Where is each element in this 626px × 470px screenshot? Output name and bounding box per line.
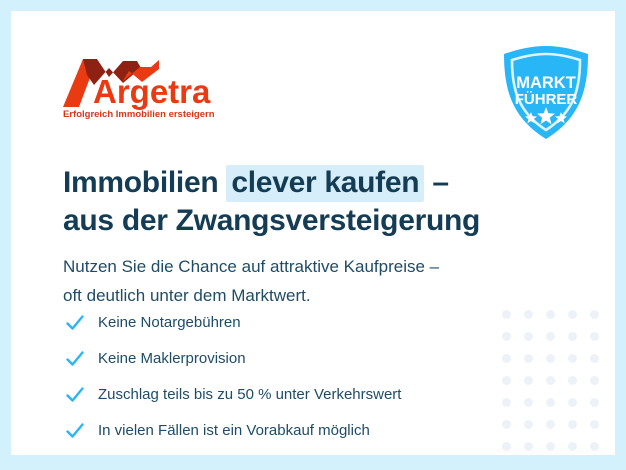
list-item: Keine Maklerprovision bbox=[65, 343, 545, 375]
badge-line1: MARKT bbox=[516, 74, 576, 92]
headline: Immobilien clever kaufen – aus der Zwang… bbox=[63, 164, 583, 240]
decorative-dot bbox=[546, 354, 555, 363]
list-item-label: In vielen Fällen ist ein Vorabkauf mögli… bbox=[98, 421, 370, 441]
decorative-dot bbox=[546, 332, 555, 341]
decorative-dot bbox=[546, 442, 555, 451]
badge-line2: FÜHRER bbox=[515, 91, 578, 108]
check-icon bbox=[65, 421, 85, 441]
subheadline: Nutzen Sie die Chance auf attraktive Kau… bbox=[63, 252, 583, 310]
decorative-dot bbox=[590, 376, 599, 385]
decorative-dot bbox=[546, 376, 555, 385]
check-icon bbox=[65, 385, 85, 405]
decorative-dot bbox=[590, 310, 599, 319]
decorative-dot bbox=[568, 398, 577, 407]
benefits-list: Keine NotargebührenKeine Maklerprovision… bbox=[65, 307, 545, 451]
logo-wordmark: Argetra bbox=[93, 73, 211, 110]
decorative-dot bbox=[568, 420, 577, 429]
decorative-dot bbox=[590, 420, 599, 429]
logo-tagline: Erfolgreich Immobilien ersteigern bbox=[63, 109, 215, 120]
decorative-dot bbox=[568, 442, 577, 451]
promo-banner: Argetra Erfolgreich Immobilien ersteiger… bbox=[0, 0, 626, 470]
decorative-dot bbox=[546, 398, 555, 407]
headline-suffix: – bbox=[424, 166, 448, 199]
decorative-dot bbox=[546, 310, 555, 319]
list-item-label: Zuschlag teils bis zu 50 % unter Verkehr… bbox=[98, 385, 401, 405]
headline-line-1: Immobilien clever kaufen – bbox=[63, 164, 583, 202]
decorative-dot bbox=[568, 376, 577, 385]
subheadline-line-1: Nutzen Sie die Chance auf attraktive Kau… bbox=[63, 252, 583, 281]
headline-prefix: Immobilien bbox=[63, 166, 226, 199]
decorative-dot bbox=[590, 442, 599, 451]
headline-highlight: clever kaufen bbox=[226, 165, 424, 202]
decorative-dot bbox=[546, 420, 555, 429]
list-item: In vielen Fällen ist ein Vorabkauf mögli… bbox=[65, 415, 545, 447]
decorative-dot bbox=[590, 332, 599, 341]
markt-fuehrer-badge: MARKT FÜHRER bbox=[500, 44, 592, 142]
decorative-dot bbox=[568, 310, 577, 319]
argetra-logo: Argetra Erfolgreich Immobilien ersteiger… bbox=[63, 55, 263, 121]
list-item: Keine Notargebühren bbox=[65, 307, 545, 339]
decorative-dot bbox=[568, 332, 577, 341]
banner-card: Argetra Erfolgreich Immobilien ersteiger… bbox=[11, 11, 615, 455]
headline-line-2: aus der Zwangsversteigerung bbox=[63, 202, 583, 240]
check-icon bbox=[65, 349, 85, 369]
decorative-dot bbox=[590, 354, 599, 363]
check-icon bbox=[65, 313, 85, 333]
list-item: Zuschlag teils bis zu 50 % unter Verkehr… bbox=[65, 379, 545, 411]
list-item-label: Keine Maklerprovision bbox=[98, 349, 246, 369]
decorative-dot bbox=[590, 398, 599, 407]
subheadline-line-2: oft deutlich unter dem Marktwert. bbox=[63, 281, 583, 310]
list-item-label: Keine Notargebühren bbox=[98, 313, 241, 333]
decorative-dot bbox=[568, 354, 577, 363]
